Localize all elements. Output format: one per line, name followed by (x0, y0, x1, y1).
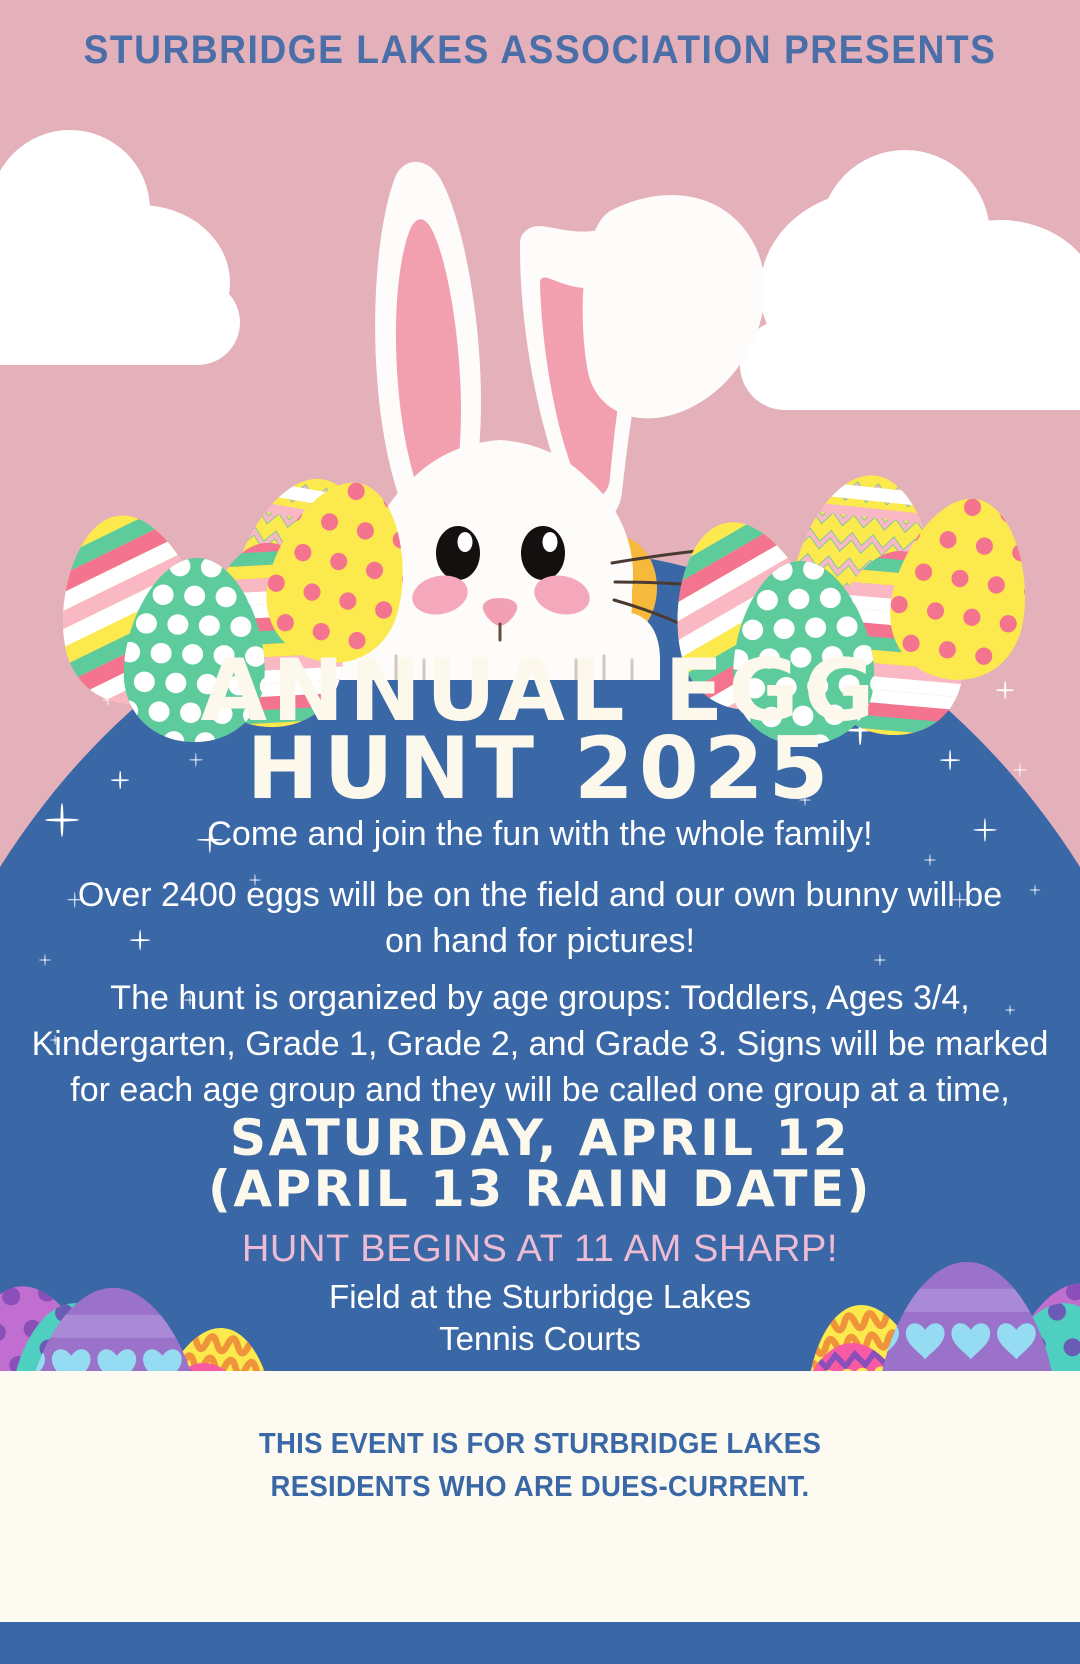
tagline: Come and join the fun with the whole fam… (90, 812, 990, 858)
easter-egg-hunt-flyer: STURBRIDGE LAKES ASSOCIATION PRESENTS (0, 0, 1080, 1664)
bottom-accent-bar (0, 1622, 1080, 1664)
paragraph-eggs: Over 2400 eggs will be on the field and … (60, 873, 1020, 965)
paragraph-age-groups: The hunt is organized by age groups: Tod… (30, 976, 1050, 1114)
title-line-2: HUNT 2025 (0, 730, 1080, 809)
event-date-line-2: (APRIL 13 RAIN DATE) (0, 1164, 1080, 1215)
event-date-line-1: SATURDAY, APRIL 12 (0, 1113, 1080, 1164)
footer-line-2: RESIDENTS WHO ARE DUES-CURRENT. (27, 1466, 1053, 1508)
footer-line-1: THIS EVENT IS FOR STURBRIDGE LAKES (27, 1423, 1053, 1465)
